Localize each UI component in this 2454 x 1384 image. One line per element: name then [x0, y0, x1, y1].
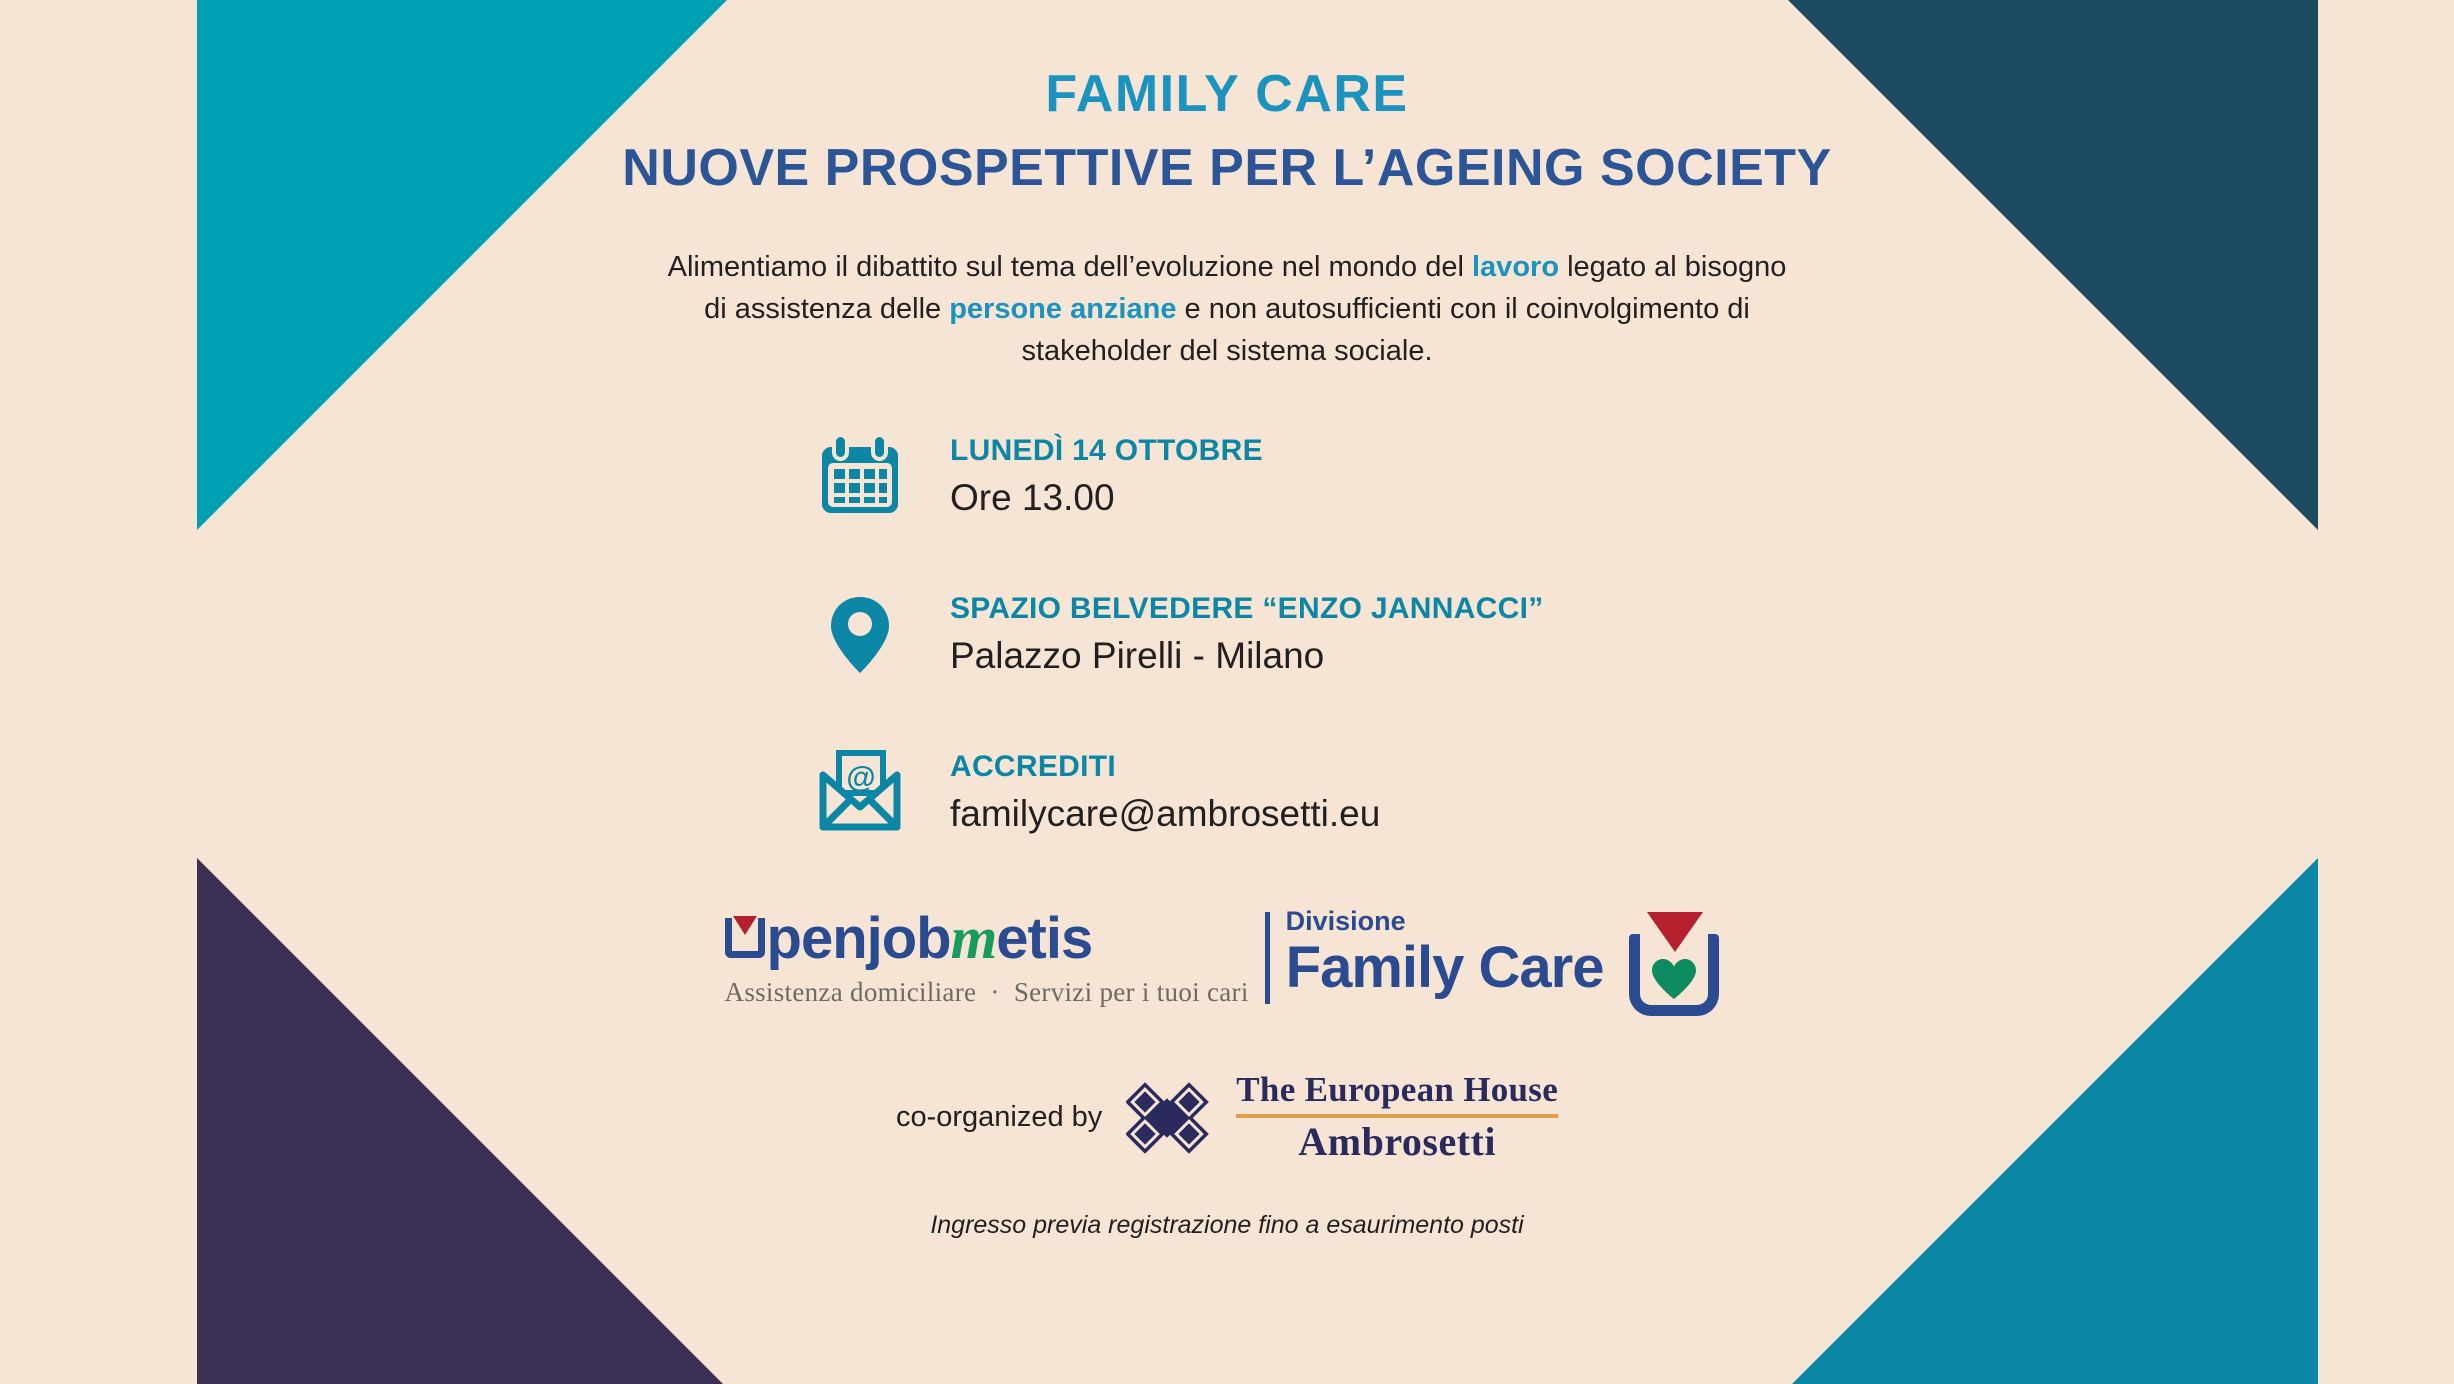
red-triangle-icon [733, 916, 757, 935]
family-care-division-block: Divisione Family Care [1286, 908, 1604, 997]
location-pin-icon [812, 586, 908, 682]
ambrosetti-divider-rule [1236, 1114, 1558, 1118]
detail-text-date: LUNEDÌ 14 OTTOBRE Ore 13.00 [950, 428, 1263, 520]
ambrosetti-diamond-icon [1126, 1079, 1222, 1157]
detail-row-location: SPAZIO BELVEDERE “ENZO JANNACCI” Palazzo… [812, 586, 1812, 682]
openjobmetis-tagline: Assistenza domiciliare · Servizi per i t… [725, 977, 1249, 1008]
ambrosetti-line-ambrosetti: Ambrosetti [1236, 1121, 1558, 1163]
poster-title-primary: FAMILY CARE [1045, 68, 1408, 120]
registration-note: Ingresso previa registrazione fino a esa… [930, 1211, 1523, 1240]
wordmark-part-etis: etis [996, 910, 1092, 968]
detail-heading-accrediti: ACCREDITI [950, 750, 1380, 783]
detail-heading-venue: SPAZIO BELVEDERE “ENZO JANNACCI” [950, 592, 1544, 625]
detail-value-time: Ore 13.00 [950, 477, 1263, 520]
coorganizer-prefix-label: co-organized by [896, 1101, 1102, 1134]
detail-text-location: SPAZIO BELVEDERE “ENZO JANNACCI” Palazzo… [950, 586, 1544, 678]
tagline-left-text: Assistenza domiciliare [725, 977, 977, 1007]
detail-text-accreditation: ACCREDITI familycare@ambrosetti.eu [950, 744, 1380, 836]
heart-icon [1651, 958, 1697, 1000]
intro-highlight-lavoro: lavoro [1472, 251, 1559, 283]
svg-text:@: @ [846, 761, 875, 794]
poster-title-secondary: NUOVE PROSPETTIVE PER L’AGEING SOCIETY [622, 142, 1831, 194]
ambrosetti-line-european-house: The European House [1236, 1072, 1558, 1109]
tagline-separator: · [990, 977, 999, 1007]
intro-text-part1: Alimentiamo il dibattito sul tema dell’e… [668, 251, 1464, 283]
wordmark-part-m: m [951, 908, 997, 968]
division-label: Divisione [1286, 908, 1604, 935]
wordmark-part-penjob: penjob [767, 910, 951, 968]
detail-value-address: Palazzo Pirelli - Milano [950, 635, 1544, 678]
intro-highlight-persone-anziane: persone anziane [949, 293, 1176, 325]
logo-vertical-divider [1265, 912, 1270, 1004]
openjobmetis-wordmark: penjobmetis [725, 908, 1249, 968]
ambrosetti-wordmark: The European House Ambrosetti [1236, 1072, 1558, 1163]
envelope-at-icon: @ [812, 744, 908, 840]
openjobmetis-o-mark [725, 914, 765, 958]
event-poster: FAMILY CARE NUOVE PROSPETTIVE PER L’AGEI… [0, 0, 2454, 1384]
openjobmetis-family-care-logo: penjobmetis Assistenza domiciliare · Ser… [725, 908, 1730, 1020]
detail-value-email[interactable]: familycare@ambrosetti.eu [950, 793, 1380, 836]
tagline-right-text: Servizi per i tuoi cari [1014, 977, 1249, 1007]
calendar-icon [812, 428, 908, 524]
detail-heading-date: LUNEDÌ 14 OTTOBRE [950, 434, 1263, 467]
poster-content: FAMILY CARE NUOVE PROSPETTIVE PER L’AGEI… [0, 0, 2454, 1240]
intro-paragraph: Alimentiamo il dibattito sul tema dell’e… [667, 246, 1787, 372]
event-details-block: LUNEDÌ 14 OTTOBRE Ore 13.00 SPAZIO BELVE… [812, 428, 1812, 902]
openjobmetis-wordmark-block: penjobmetis Assistenza domiciliare · Ser… [725, 908, 1249, 1008]
detail-row-date: LUNEDÌ 14 OTTOBRE Ore 13.00 [812, 428, 1812, 524]
coorganizer-row: co-organized by The European House [896, 1072, 1558, 1163]
family-care-heart-mark [1621, 912, 1729, 1020]
division-name: Family Care [1286, 939, 1604, 997]
detail-row-accreditation: @ ACCREDITI familycare@ambrosetti.eu [812, 744, 1812, 840]
